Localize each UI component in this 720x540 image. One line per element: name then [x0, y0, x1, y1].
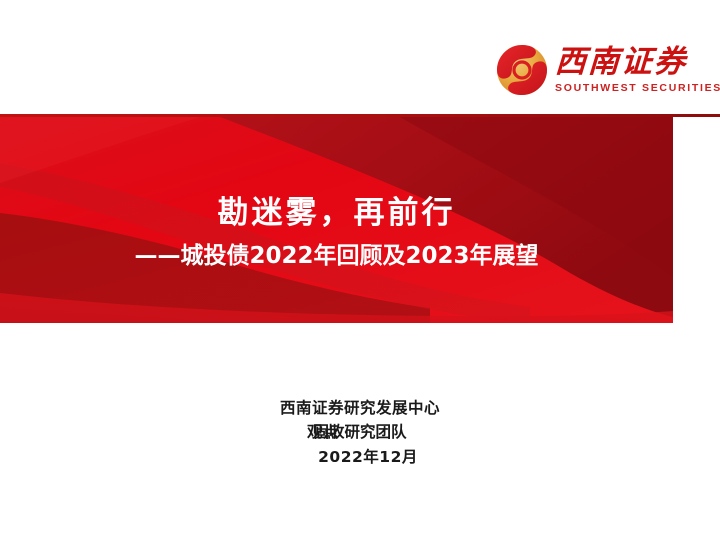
southwest-securities-emblem-icon	[496, 44, 548, 96]
logo-english-name: SOUTHWEST SECURITIES	[555, 81, 720, 95]
logo-wordmark: 西南证券 SOUTHWEST SECURITIES	[555, 42, 720, 95]
presentation-slide: 西南证券 SOUTHWEST SECURITIES	[0, 0, 720, 540]
company-logo: 西南证券 SOUTHWEST SECURITIES	[496, 42, 696, 108]
credits-block: 西南证券研究发展中心 固收研究团队 观点 2022年12月	[0, 396, 720, 470]
credit-organization: 西南证券研究发展中心	[0, 396, 720, 420]
logo-chinese-name: 西南证券	[554, 44, 720, 80]
credit-team-overlay-text: 观点	[0, 420, 683, 444]
title-banner	[0, 117, 673, 323]
credit-date: 2022年12月	[8, 444, 720, 470]
credit-team-row: 固收研究团队 观点	[0, 420, 720, 444]
